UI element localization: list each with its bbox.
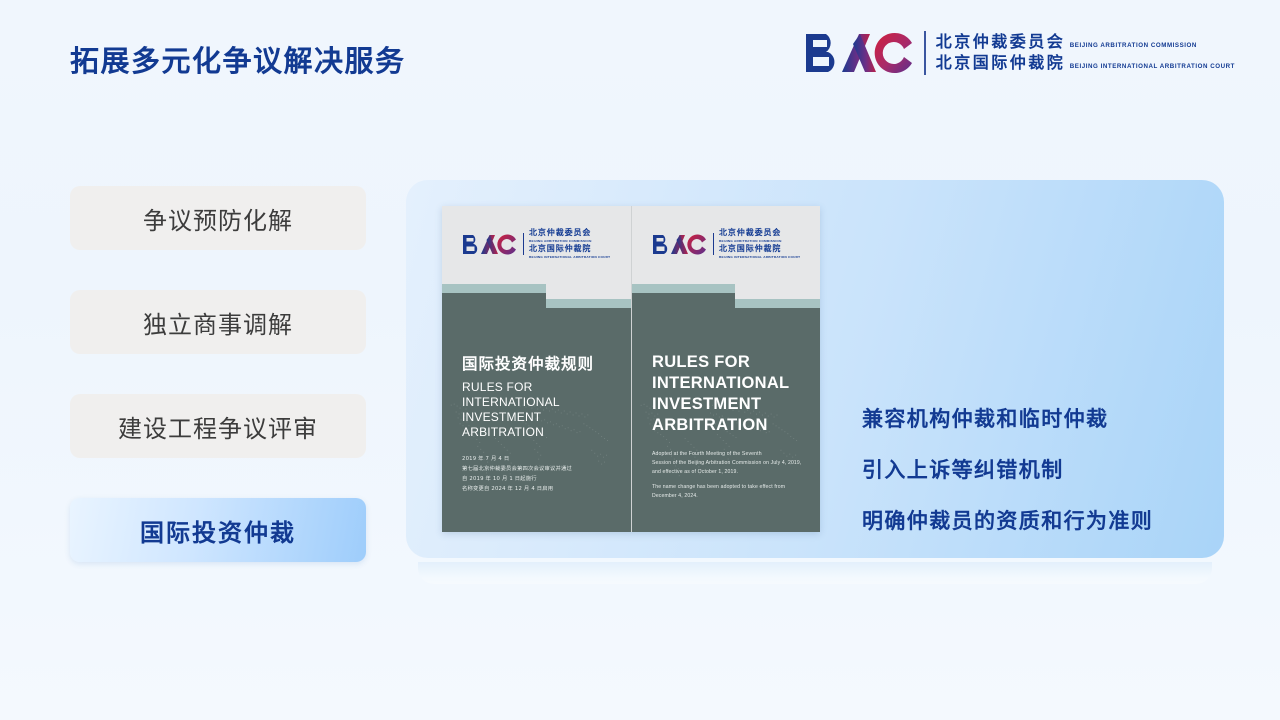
booklet-bac-logo-icon: 北京仲裁委员会 BEIJING ARBITRATION COMMISSION 北… (462, 230, 610, 258)
booklet-title-en-line1: RULES FOR INTERNATIONAL (462, 380, 619, 410)
booklet-title-line2: INTERNATIONAL (652, 373, 808, 394)
booklet-logo-cn-2: 北京国际仲裁院 (719, 245, 800, 253)
booklet-meta-line: The name change has been adopted to take… (652, 483, 808, 492)
card-reflection (418, 562, 1212, 584)
logo-line-1: 北京仲裁委员会 BEIJING ARBITRATION COMMISSION (936, 34, 1235, 52)
logo-cn-1: 北京仲裁委员会 (936, 32, 1066, 51)
slide: 拓展多元化争议解决服务 (0, 0, 1280, 720)
booklet-cover-text: 国际投资仲裁规则 RULES FOR INTERNATIONAL INVESTM… (462, 352, 619, 494)
page-title: 拓展多元化争议解决服务 (70, 38, 406, 80)
slide-header: 拓展多元化争议解决服务 (0, 0, 1280, 100)
booklet-meta-line: December 4, 2024. (652, 492, 808, 501)
booklet-logo-en-2: BEIJING INTERNATIONAL ARBITRATION COURT (719, 255, 800, 259)
booklet-meta-line: 名称变更自 2024 年 12 月 4 日启用 (462, 484, 619, 494)
feature-bullet: 明确仲裁员的资质和行为准则 (862, 510, 1202, 533)
logo-en-2: BEIJING INTERNATIONAL ARBITRATION COURT (1070, 63, 1235, 70)
booklet-title-en-line2: INVESTMENT ARBITRATION (462, 410, 619, 440)
booklet-title-line4: ARBITRATION (652, 415, 808, 436)
menu-item-international-investment-arbitration[interactable]: 国际投资仲裁 (70, 498, 366, 562)
booklet-meta-line: 第七届北京仲裁委员会第四次会议审议并通过 (462, 464, 619, 474)
feature-bullet: 兼容机构仲裁和临时仲裁 (862, 408, 1202, 431)
menu-item-label: 国际投资仲裁 (140, 513, 296, 548)
booklet-logo-en-1: BEIJING ARBITRATION COMMISSION (529, 239, 610, 243)
booklet-body-panel: RULES FOR INTERNATIONAL INVESTMENT ARBIT… (632, 308, 820, 532)
bac-logo: 北京仲裁委员会 BEIJING ARBITRATION COMMISSION 北… (804, 27, 1235, 79)
logo-text-block: 北京仲裁委员会 BEIJING ARBITRATION COMMISSION 北… (936, 34, 1235, 73)
booklet-cover-chinese: 北京仲裁委员会 BEIJING ARBITRATION COMMISSION 北… (442, 206, 632, 532)
booklet-meta-en: Adopted at the Fourth Meeting of the Sev… (652, 450, 808, 501)
feature-bullet: 引入上诉等纠错机制 (862, 459, 1202, 482)
booklet-meta-line: 2019 年 7 月 4 日 (462, 454, 619, 464)
booklet-meta-line: Session of the Beijing Arbitration Commi… (652, 459, 808, 468)
booklet-logo-en-2: BEIJING INTERNATIONAL ARBITRATION COURT (529, 255, 610, 259)
logo-en-1: BEIJING ARBITRATION COMMISSION (1070, 42, 1197, 49)
booklet-meta-line: Adopted at the Fourth Meeting of the Sev… (652, 450, 808, 459)
booklet-meta-cn: 2019 年 7 月 4 日 第七届北京仲裁委员会第四次会议审议并通过 自 20… (462, 454, 619, 494)
menu-item-label: 建设工程争议评审 (118, 409, 318, 444)
menu-item-independent-mediation[interactable]: 独立商事调解 (70, 290, 366, 354)
booklet-cover-english: 北京仲裁委员会 BEIJING ARBITRATION COMMISSION 北… (632, 206, 820, 532)
logo-cn-2: 北京国际仲裁院 (936, 53, 1066, 72)
booklet-title-line3: INVESTMENT (652, 394, 808, 415)
bac-logomark-icon (804, 30, 916, 76)
booklet-logo-cn-1: 北京仲裁委员会 (529, 229, 610, 237)
booklet-step-band (442, 284, 631, 308)
content-card: 北京仲裁委员会 BEIJING ARBITRATION COMMISSION 北… (406, 180, 1224, 558)
booklet-meta-line: 自 2019 年 10 月 1 日起施行 (462, 474, 619, 484)
service-menu: 争议预防化解 独立商事调解 建设工程争议评审 国际投资仲裁 (70, 186, 366, 562)
booklet-bac-logo-icon: 北京仲裁委员会 BEIJING ARBITRATION COMMISSION 北… (652, 230, 800, 258)
booklet-title-cn: 国际投资仲裁规则 (462, 352, 619, 374)
booklet-pair-image: 北京仲裁委员会 BEIJING ARBITRATION COMMISSION 北… (442, 206, 820, 532)
booklet-step-band (632, 284, 820, 308)
booklet-logo-en-1: BEIJING ARBITRATION COMMISSION (719, 239, 800, 243)
menu-item-dispute-prevention[interactable]: 争议预防化解 (70, 186, 366, 250)
menu-item-label: 争议预防化解 (143, 201, 293, 236)
booklet-cover-text: RULES FOR INTERNATIONAL INVESTMENT ARBIT… (652, 352, 808, 501)
feature-bullet-list: 兼容机构仲裁和临时仲裁 引入上诉等纠错机制 明确仲裁员的资质和行为准则 (862, 408, 1202, 533)
booklet-logo-cn-1: 北京仲裁委员会 (719, 229, 800, 237)
booklet-body-panel: 国际投资仲裁规则 RULES FOR INTERNATIONAL INVESTM… (442, 308, 631, 532)
booklet-meta-line: and effective as of October 1, 2019. (652, 468, 808, 477)
logo-divider (924, 31, 926, 75)
booklet-logo-cn-2: 北京国际仲裁院 (529, 245, 610, 253)
menu-item-label: 独立商事调解 (143, 305, 293, 340)
menu-item-construction-review[interactable]: 建设工程争议评审 (70, 394, 366, 458)
booklet-title-line1: RULES FOR (652, 352, 808, 373)
logo-line-2: 北京国际仲裁院 BEIJING INTERNATIONAL ARBITRATIO… (936, 55, 1235, 73)
